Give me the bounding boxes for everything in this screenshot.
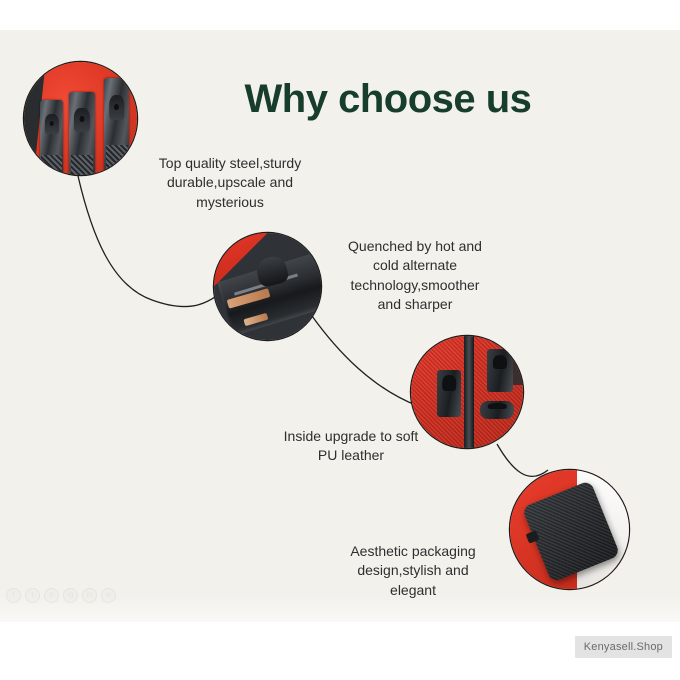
feature-caption-aesthetic-packaging: Aesthetic packaging design,stylish and e… [326,542,500,600]
feature-caption-top-quality-steel: Top quality steel,sturdy durable,upscale… [132,154,328,212]
caption-line: design,stylish and [326,561,500,580]
caption-line: durable,upscale and [132,173,328,192]
feature-image-top-quality-steel [24,62,137,175]
page-title: Why choose us [228,78,548,120]
feature-caption-pu-leather-interior: Inside upgrade to soft PU leather [264,427,438,466]
shop-watermark: Kenyasell.Shop [575,636,672,658]
feature-image-quenched-hot-cold [214,233,321,340]
caption-line: Top quality steel,sturdy [132,154,328,173]
feature-caption-quenched-hot-cold: Quenched by hot and cold alternate techn… [324,237,506,314]
caption-line: Aesthetic packaging [326,542,500,561]
social-icon-watermark-row: f t p ig in w [6,588,116,603]
blade-macro-photo [214,233,321,340]
caption-line: PU leather [264,446,438,465]
caption-line: technology,smoother [324,276,506,295]
caption-line: cold alternate [324,256,506,275]
clippers-on-red-photo [24,62,137,175]
whatsapp-icon: w [101,588,116,603]
facebook-icon: f [6,588,21,603]
twitter-icon: t [25,588,40,603]
caption-line: Quenched by hot and [324,237,506,256]
linkedin-icon: in [82,588,97,603]
caption-line: and sharper [324,295,506,314]
caption-line: elegant [326,581,500,600]
caption-line: mysterious [132,193,328,212]
product-infographic: Why choose us [0,0,680,680]
caption-line: Inside upgrade to soft [264,427,438,446]
pinterest-icon: p [44,588,59,603]
feature-image-aesthetic-packaging [510,470,629,589]
instagram-icon: ig [63,588,78,603]
black-case-photo [510,470,629,589]
